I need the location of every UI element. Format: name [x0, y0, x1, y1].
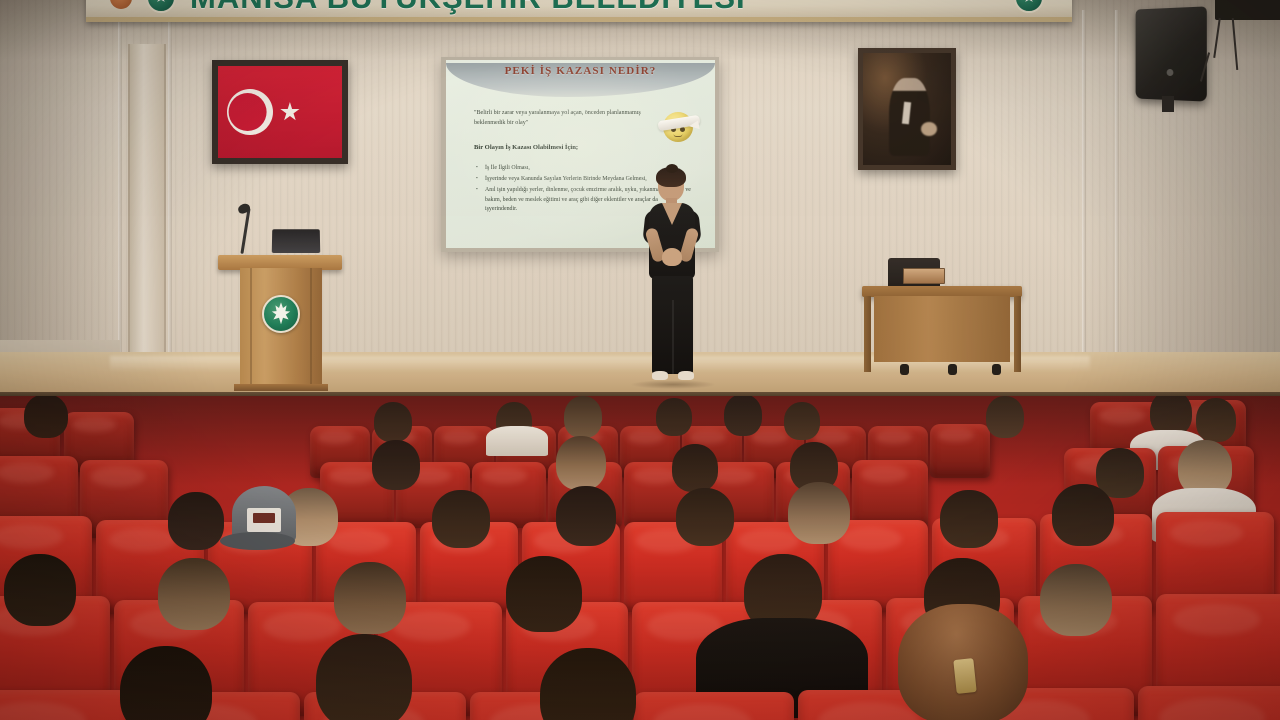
attendee-head — [24, 396, 68, 438]
side-table-leg — [864, 296, 871, 372]
ceiling-panel — [1215, 0, 1280, 20]
speaker-mount-bracket — [1162, 96, 1174, 112]
gold-hair-clip-icon — [953, 658, 976, 694]
attendee-head — [168, 492, 224, 550]
attendee — [1040, 564, 1112, 636]
lectern-base — [234, 384, 328, 391]
attendee — [656, 398, 692, 436]
attendee-head — [676, 488, 734, 546]
attendee-head-balding — [1040, 564, 1112, 636]
slide-title: PEKİ İŞ KAZASI NEDİR? — [446, 65, 715, 77]
attendee-head — [940, 490, 998, 548]
attendee — [506, 556, 582, 632]
attendee — [784, 402, 820, 440]
attendee-head — [724, 396, 762, 436]
attendee-head — [540, 648, 636, 720]
attendee — [168, 492, 224, 550]
bandaged-injured-emoji-icon — [663, 112, 693, 142]
hall-banner: MANİSA BÜYÜKŞEHİR BELEDİYESİ — [86, 0, 1072, 22]
attendee-head — [564, 396, 602, 438]
attendee-head-balding — [788, 482, 850, 544]
attendee — [4, 554, 76, 626]
theater-seat[interactable] — [930, 424, 990, 478]
banner-title: MANİSA BÜYÜKŞEHİR BELEDİYESİ — [190, 0, 746, 16]
attendee — [316, 634, 412, 720]
attendee — [940, 490, 998, 548]
wall-recess-left — [128, 44, 166, 388]
baseball-cap-icon — [232, 486, 296, 542]
crescent-icon — [227, 89, 273, 135]
attendee-updo-hairclip — [898, 604, 1028, 720]
portrait-figure — [889, 78, 929, 156]
attendee-head-balding — [334, 562, 406, 634]
attendee-head — [316, 634, 412, 720]
attendee-shirt — [486, 426, 548, 456]
attendee — [432, 490, 490, 548]
attendee-head — [672, 444, 718, 492]
attendee — [672, 444, 718, 492]
attendee — [1196, 398, 1236, 442]
attendee — [374, 402, 412, 442]
attendee — [540, 648, 636, 720]
attendee — [986, 396, 1024, 438]
theater-seat[interactable] — [1138, 686, 1280, 720]
auditorium-seating-area — [0, 396, 1280, 720]
theater-seat[interactable] — [852, 460, 928, 528]
attendee — [788, 482, 850, 544]
attendee-head — [506, 556, 582, 632]
attendee-head-balding — [556, 436, 606, 490]
theater-seat[interactable] — [0, 690, 130, 720]
wall-seam — [1082, 10, 1086, 400]
attendee-head-balding — [158, 558, 230, 630]
theater-seat[interactable] — [634, 692, 794, 720]
presenter-shoe-left — [652, 371, 668, 380]
attendee — [556, 436, 606, 490]
municipality-emblem-icon — [262, 295, 300, 333]
attendee — [334, 562, 406, 634]
table-caster — [948, 364, 957, 375]
slide-subheading: Bir Olayın İş Kazası Olabilmesi İçin; — [474, 144, 578, 151]
attendee — [120, 646, 212, 720]
attendee-head — [556, 486, 616, 546]
attendee-head — [372, 440, 420, 490]
attendee — [724, 396, 762, 436]
attendee-head — [656, 398, 692, 436]
attendee — [676, 488, 734, 546]
attendee-head — [120, 646, 212, 720]
flag-field — [218, 66, 342, 158]
attendee — [158, 558, 230, 630]
attendee-head — [4, 554, 76, 626]
attendee — [1052, 484, 1114, 546]
banner-orange-emblem-icon — [110, 0, 132, 9]
attendee-head — [986, 396, 1024, 438]
manisa-municipality-logo-icon — [146, 0, 176, 13]
slide-quote: "Belirli bir zarar veya yaralanmaya yol … — [474, 108, 664, 128]
attendee — [24, 396, 68, 438]
female-speaker — [636, 170, 708, 385]
podium-laptop — [272, 229, 321, 253]
portrait-hand — [921, 122, 937, 136]
table-caster — [992, 364, 1001, 375]
wall-mounted-pa-speaker — [1136, 6, 1207, 101]
attendee-head — [1196, 398, 1236, 442]
side-table-body — [874, 296, 1010, 362]
ataturk-portrait-framed — [858, 48, 956, 170]
star-icon — [280, 102, 300, 122]
cap-brim — [220, 532, 294, 550]
table-caster — [900, 364, 909, 375]
presenter-shoe-right — [678, 371, 694, 380]
auditorium-scene: MANİSA BÜYÜKŞEHİR BELEDİYESİ PEKİ İŞ KAZ… — [0, 0, 1280, 720]
attendee — [556, 486, 616, 546]
wall-seam — [1115, 10, 1119, 400]
attendee — [564, 396, 602, 438]
attendee-head — [432, 490, 490, 548]
presenter-legs — [652, 276, 693, 374]
attendee — [372, 440, 420, 490]
attendee-head — [784, 402, 820, 440]
municipality-seal-logo-icon — [1014, 0, 1044, 13]
side-table-leg — [1014, 296, 1021, 372]
attendee-head — [1052, 484, 1114, 546]
attendee-with-gray-cap — [232, 486, 296, 542]
turkish-flag-framed — [212, 60, 348, 164]
table-box — [903, 268, 945, 284]
presenter-clasped-hands — [662, 248, 682, 266]
presenter-hair-bun — [666, 164, 678, 173]
emoji-mouth — [674, 134, 683, 137]
attendee-head — [374, 402, 412, 442]
cap-patch — [247, 508, 280, 532]
